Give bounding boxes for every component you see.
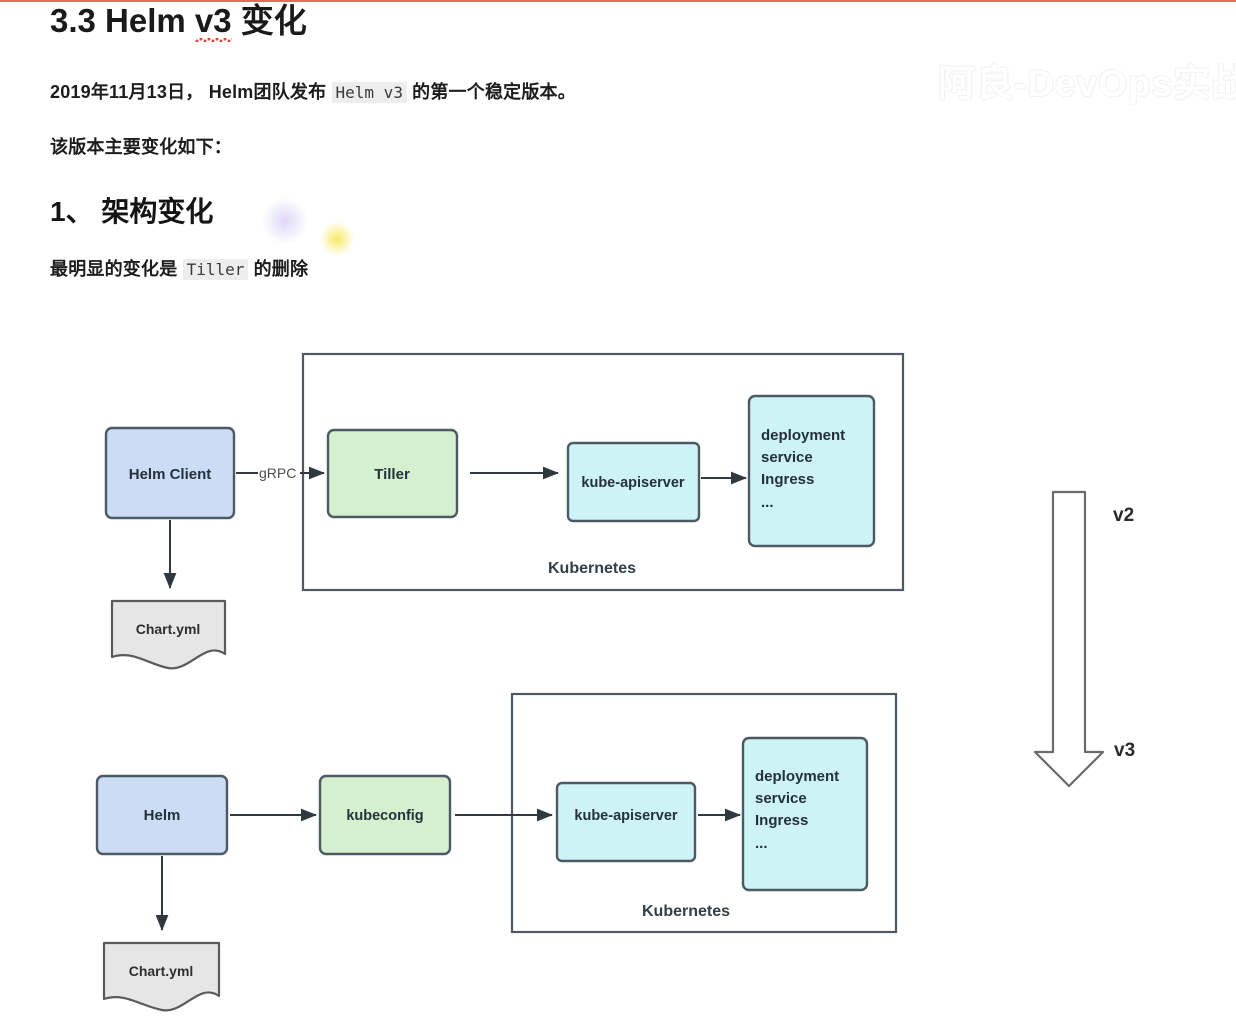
v3-kubeconfig-label: kubeconfig xyxy=(346,808,423,824)
v3-resource-deployment: deployment xyxy=(755,768,839,785)
v3-resource-ellipsis: ... xyxy=(755,835,768,852)
v2-chart-yml-label: Chart.yml xyxy=(136,621,201,637)
v2-section: Kubernetes Helm Client gRPC Tiller kube-… xyxy=(106,354,903,668)
v2-resource-ingress: Ingress xyxy=(761,471,814,488)
version-label-v2: v2 xyxy=(1113,505,1134,526)
architecture-diagram: Kubernetes Helm Client gRPC Tiller kube-… xyxy=(0,0,1236,1020)
v2-tiller-label: Tiller xyxy=(374,466,410,483)
v2-resource-ellipsis: ... xyxy=(761,494,774,511)
v3-resource-ingress: Ingress xyxy=(755,812,808,829)
v2-resource-service: service xyxy=(761,449,813,466)
v2-kubernetes-label: Kubernetes xyxy=(548,560,636,577)
v3-helm-label: Helm xyxy=(144,807,181,824)
v3-chart-yml-label: Chart.yml xyxy=(129,963,194,979)
version-transition-arrow-group: v2 v3 xyxy=(1035,492,1135,786)
v3-kubernetes-label: Kubernetes xyxy=(642,903,730,920)
version-label-v3: v3 xyxy=(1114,740,1135,761)
v3-resource-service: service xyxy=(755,790,807,807)
v3-section: Kubernetes Helm kubeconfig kube-apiserve… xyxy=(97,694,896,1010)
version-transition-block-arrow xyxy=(1035,492,1103,786)
v2-helm-client-label: Helm Client xyxy=(129,466,212,483)
v2-kube-apiserver-label: kube-apiserver xyxy=(581,475,685,491)
v2-grpc-edge-label: gRPC xyxy=(259,465,296,481)
v3-kube-apiserver-label: kube-apiserver xyxy=(574,808,678,824)
v2-resource-deployment: deployment xyxy=(761,427,845,444)
